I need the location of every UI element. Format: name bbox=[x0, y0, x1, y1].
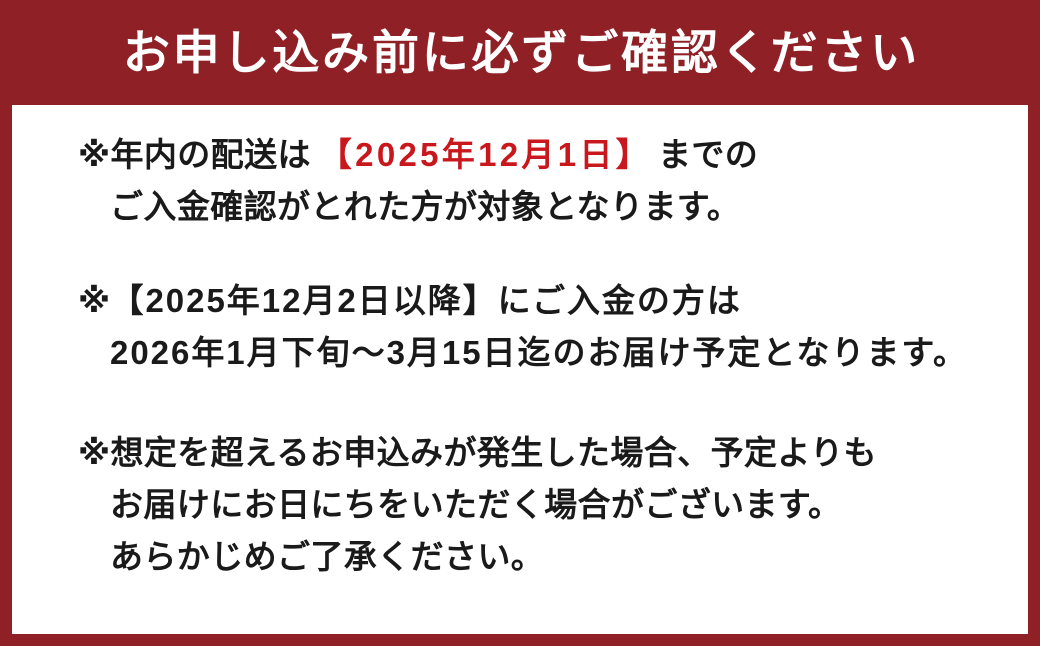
notice-text-segment: 想定を超えるお申込みが発生した場合、予定よりも bbox=[110, 434, 876, 471]
notice-line: ※年内の配送は【2025年12月1日】までの bbox=[78, 129, 1018, 181]
notice-header-band: お申し込み前に必ずご確認ください bbox=[12, 0, 1028, 105]
page-title: お申し込み前に必ずご確認ください bbox=[120, 29, 920, 76]
notice-line: ※想定を超えるお申込みが発生した場合、予定よりも bbox=[78, 427, 1018, 479]
notice-text-segment: までの bbox=[658, 136, 758, 173]
notice-line: あらかじめご了承ください。 bbox=[78, 531, 1018, 583]
notice-block-late-payment: ※【2025年12月2日以降】にご入金の方は 2026年1月下旬〜3月15日迄の… bbox=[78, 275, 1018, 379]
highlighted-date: 【2025年12月1日】 bbox=[311, 136, 658, 173]
notice-line: 2026年1月下旬〜3月15日迄のお届け予定となります。 bbox=[78, 327, 1018, 379]
notice-card: お申し込み前に必ずご確認ください ※年内の配送は【2025年12月1日】までの … bbox=[0, 0, 1040, 646]
asterisk-marker-icon: ※ bbox=[78, 129, 110, 181]
notice-block-delay-disclaimer: ※想定を超えるお申込みが発生した場合、予定よりも お届けにお日にちをいただく場合… bbox=[78, 427, 1018, 583]
notice-text-segment: 年内の配送は bbox=[110, 136, 310, 173]
notice-line: お届けにお日にちをいただく場合がございます。 bbox=[78, 479, 1018, 531]
asterisk-marker-icon: ※ bbox=[78, 427, 110, 479]
notice-block-delivery-deadline: ※年内の配送は【2025年12月1日】までの ご入金確認がとれた方が対象となりま… bbox=[78, 129, 1018, 233]
notice-body: ※年内の配送は【2025年12月1日】までの ご入金確認がとれた方が対象となりま… bbox=[12, 105, 1028, 634]
notice-line: ※【2025年12月2日以降】にご入金の方は bbox=[78, 275, 1018, 327]
notice-text-segment: 【2025年12月2日以降】にご入金の方は bbox=[110, 282, 741, 319]
asterisk-marker-icon: ※ bbox=[78, 275, 110, 327]
notice-line: ご入金確認がとれた方が対象となります。 bbox=[78, 181, 1018, 233]
